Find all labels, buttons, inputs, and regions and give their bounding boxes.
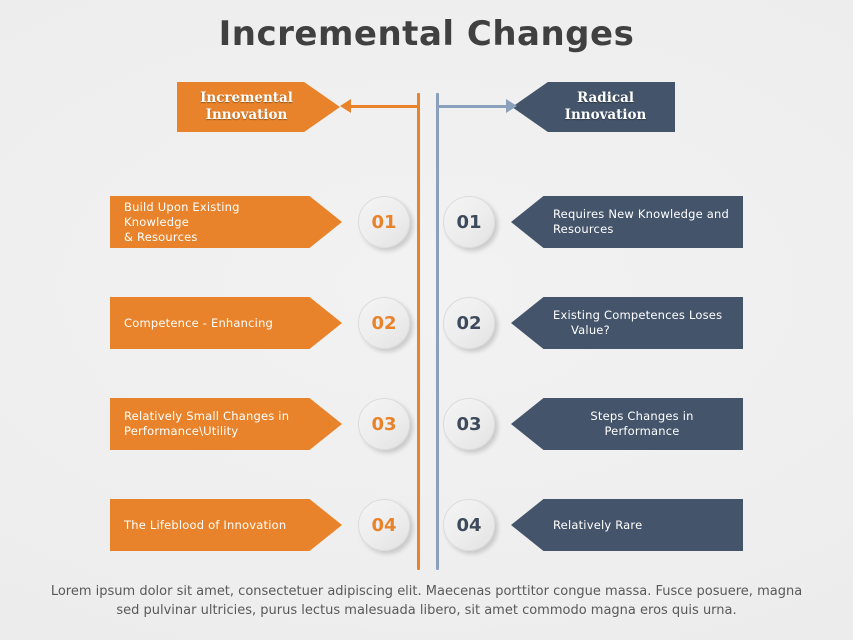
radical-item-1-line2: Resources [553,222,614,236]
arrow-right-icon [506,99,517,113]
incremental-item-3[interactable]: Relatively Small Changes in Performance\… [110,398,342,450]
step-number-left-2: 02 [358,297,410,349]
step-number-left-4: 04 [358,499,410,551]
header-radical-innovation[interactable]: Radical Innovation [512,82,675,132]
incremental-item-1-line1: Build Upon Existing Knowledge [124,200,240,229]
step-number-left-1: 01 [358,196,410,248]
incremental-item-3-line1: Relatively Small Changes in [124,409,289,423]
radical-item-3-text: Steps Changes in Performance [553,409,731,439]
radical-item-1-line1: Requires New Knowledge and [553,207,729,221]
header-left-text: Incremental Innovation [200,90,293,124]
incremental-item-2[interactable]: Competence - Enhancing [110,297,342,349]
horizontal-connector-orange [348,105,419,108]
header-right-line2: Innovation [565,107,647,123]
radical-item-2-text: Existing Competences Loses Value? [553,308,722,338]
radical-item-3[interactable]: Steps Changes in Performance [511,398,743,450]
header-left-line2: Innovation [206,107,288,123]
incremental-item-3-text: Relatively Small Changes in Performance\… [124,409,289,439]
incremental-item-2-text: Competence - Enhancing [124,316,273,331]
incremental-item-1-text: Build Upon Existing Knowledge & Resource… [124,200,302,245]
table-row: Competence - Enhancing 02 02 Existing Co… [0,297,853,349]
step-number-right-3: 03 [443,398,495,450]
incremental-item-2-line1: Competence - Enhancing [124,316,273,330]
incremental-item-4-text: The Lifeblood of Innovation [124,518,286,533]
radical-item-2-line1: Existing Competences Loses [553,308,722,322]
incremental-item-3-line2: Performance\Utility [124,424,238,438]
radical-item-4-text: Relatively Rare [553,518,642,533]
radical-item-2-line2: Value? [553,323,610,338]
step-number-right-4: 04 [443,499,495,551]
header-incremental-innovation[interactable]: Incremental Innovation [177,82,340,132]
radical-item-1-text: Requires New Knowledge and Resources [553,207,729,237]
table-row: Relatively Small Changes in Performance\… [0,398,853,450]
radical-item-3-line1: Steps Changes in Performance [590,409,693,438]
incremental-item-1[interactable]: Build Upon Existing Knowledge & Resource… [110,196,342,248]
header-left-line1: Incremental [200,90,293,106]
incremental-item-4-line1: The Lifeblood of Innovation [124,518,286,532]
header-right-text: Radical Innovation [565,90,647,124]
table-row: Build Upon Existing Knowledge & Resource… [0,196,853,248]
page-title: Incremental Changes [0,14,853,54]
header-right-line1: Radical [577,90,634,106]
step-number-right-2: 02 [443,297,495,349]
incremental-item-4[interactable]: The Lifeblood of Innovation [110,499,342,551]
step-number-right-1: 01 [443,196,495,248]
radical-item-1[interactable]: Requires New Knowledge and Resources [511,196,743,248]
arrow-left-icon [340,99,351,113]
horizontal-connector-blue [437,105,508,108]
slide-canvas: Incremental Changes Incremental Innovati… [0,0,853,640]
footer-line1: Lorem ipsum dolor sit amet, consectetuer… [51,584,753,599]
radical-item-4-line1: Relatively Rare [553,518,642,532]
footer-caption: Lorem ipsum dolor sit amet, consectetuer… [46,582,807,620]
radical-item-4[interactable]: Relatively Rare [511,499,743,551]
table-row: The Lifeblood of Innovation 04 04 Relati… [0,499,853,551]
step-number-left-3: 03 [358,398,410,450]
radical-item-2[interactable]: Existing Competences Loses Value? [511,297,743,349]
incremental-item-1-line2: & Resources [124,230,198,244]
